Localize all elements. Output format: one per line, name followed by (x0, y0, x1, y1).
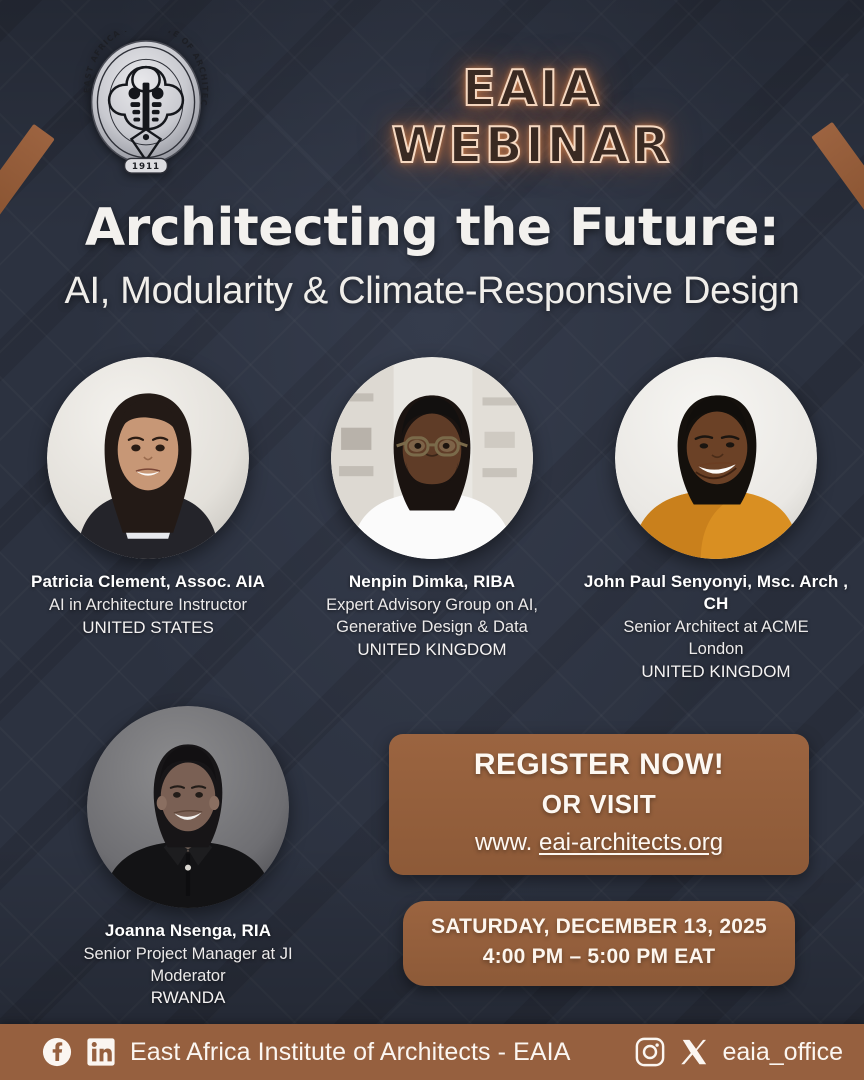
moderator-name: Joanna Nsenga, RIA (38, 920, 338, 942)
url-prefix: www. (475, 829, 539, 856)
moderator-role: Senior Project Manager at JI Moderator (38, 944, 338, 988)
footer-page-name: East Africa Institute of Architects - EA… (130, 1038, 571, 1067)
moderator-photo-joanna-nsenga (87, 706, 289, 908)
bottom-section: Joanna Nsenga, RIA Senior Project Manage… (0, 706, 864, 1011)
x-icon[interactable] (679, 1037, 709, 1067)
moderator-country: RWANDA (38, 987, 338, 1010)
event-datetime-badge: SATURDAY, DECEMBER 13, 2025 4:00 PM – 5:… (403, 901, 795, 986)
instagram-icon[interactable] (635, 1037, 665, 1067)
title-block: Architecting the Future: AI, Modularity … (0, 198, 864, 313)
eaia-logo: EAST AFRICA INSTITUTE OF ARCHITECTS (76, 30, 216, 182)
avatar (615, 357, 817, 559)
speaker-role: Senior Architect at ACME London (583, 617, 849, 661)
linkedin-icon[interactable] (86, 1037, 116, 1067)
speaker-name: Patricia Clement, Assoc. AIA (15, 571, 281, 593)
footer-handle: eaia_office (723, 1038, 843, 1067)
event-time: 4:00 PM – 5:00 PM EAT (415, 942, 783, 972)
url-link[interactable]: eai-architects.org (539, 829, 723, 856)
moderator-card: Joanna Nsenga, RIA Senior Project Manage… (38, 706, 338, 1011)
speaker-card: John Paul Senyonyi, Msc. Arch , CH Senio… (583, 357, 849, 684)
avatar (87, 706, 289, 908)
register-button[interactable]: REGISTER NOW! OR VISIT www. eai-architec… (389, 734, 809, 875)
poster-header: EAST AFRICA INSTITUTE OF ARCHITECTS (0, 0, 864, 186)
register-url[interactable]: www. eai-architects.org (407, 829, 791, 857)
register-subline: OR VISIT (407, 789, 791, 820)
event-date: SATURDAY, DECEMBER 13, 2025 (415, 912, 783, 942)
register-headline: REGISTER NOW! (407, 748, 791, 782)
page-title: Architecting the Future: (26, 198, 838, 258)
speaker-name: Nenpin Dimka, RIBA (299, 571, 565, 593)
speaker-photo-nenpin-dimka (331, 357, 533, 559)
svg-text:1911: 1911 (132, 162, 160, 172)
avatar (47, 357, 249, 559)
page-subtitle: AI, Modularity & Climate-Responsive Desi… (26, 270, 838, 313)
speaker-role: Expert Advisory Group on AI, Generative … (299, 595, 565, 639)
eaia-seal-icon: EAST AFRICA INSTITUTE OF ARCHITECTS (78, 31, 214, 181)
webinar-neon-title: EAIA WEBINAR (322, 60, 742, 174)
speaker-role: AI in Architecture Instructor (15, 595, 281, 617)
speaker-photo-patricia-clement (47, 357, 249, 559)
speaker-country: UNITED KINGDOM (299, 639, 565, 662)
footer-bar: East Africa Institute of Architects - EA… (0, 1024, 864, 1080)
cta-column: REGISTER NOW! OR VISIT www. eai-architec… (362, 706, 836, 1011)
speaker-card: Nenpin Dimka, RIBA Expert Advisory Group… (299, 357, 565, 684)
webinar-poster: EAST AFRICA INSTITUTE OF ARCHITECTS (0, 0, 864, 1080)
speakers-row: Patricia Clement, Assoc. AIA AI in Archi… (0, 357, 864, 684)
speaker-card: Patricia Clement, Assoc. AIA AI in Archi… (15, 357, 281, 684)
speaker-country: UNITED STATES (15, 617, 281, 640)
speaker-name: John Paul Senyonyi, Msc. Arch , CH (583, 571, 849, 615)
speaker-photo-john-paul-senyonyi (615, 357, 817, 559)
speaker-country: UNITED KINGDOM (583, 661, 849, 684)
facebook-icon[interactable] (42, 1037, 72, 1067)
avatar (331, 357, 533, 559)
